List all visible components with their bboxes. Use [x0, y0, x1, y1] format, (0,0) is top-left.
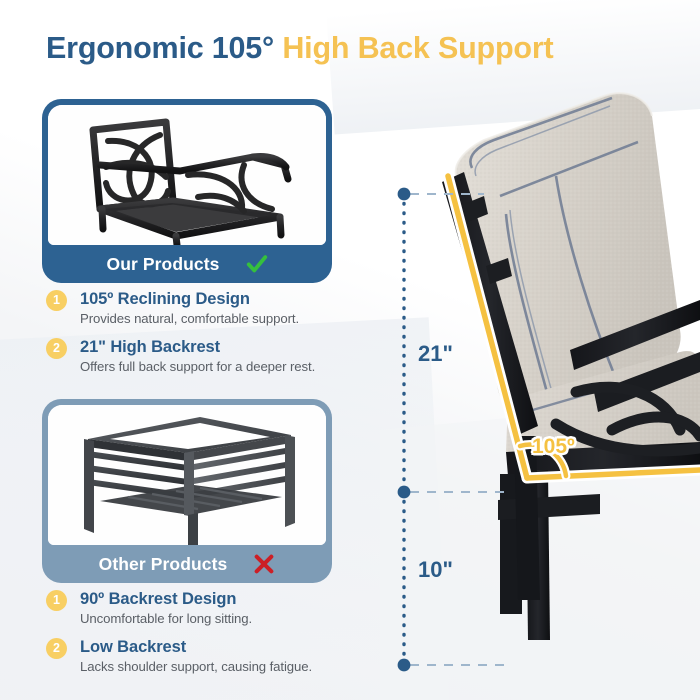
feature-number-badge: 1 [46, 590, 67, 611]
boxy-chair-illustration [48, 405, 326, 545]
page-title-primary: Ergonomic 105° [46, 31, 274, 65]
feature-title: Low Backrest [80, 637, 382, 657]
other-products-feature-list: 1 90º Backrest Design Uncomfortable for … [42, 589, 382, 685]
feature-item: 2 Low Backrest Lacks shoulder support, c… [42, 637, 382, 676]
our-products-feature-list: 1 105º Reclining Design Provides natural… [42, 289, 382, 385]
feature-number-badge: 1 [46, 290, 67, 311]
our-products-label: Our Products [106, 254, 219, 275]
recline-angle-label: 105º [532, 435, 575, 459]
seat-height-label: 10" [418, 557, 453, 583]
cross-icon [253, 553, 275, 575]
other-products-card: Other Products [42, 399, 332, 583]
feature-subtitle: Lacks shoulder support, causing fatigue. [80, 658, 382, 676]
feature-subtitle: Uncomfortable for long sitting. [80, 610, 382, 628]
feature-item: 1 105º Reclining Design Provides natural… [42, 289, 382, 328]
infographic-page: Ergonomic 105° High Back Support [0, 0, 700, 700]
hero-product-photo: 21" 10" 105º [380, 0, 700, 700]
feature-item: 2 21" High Backrest Offers full back sup… [42, 337, 382, 376]
feature-subtitle: Provides natural, comfortable support. [80, 310, 382, 328]
feature-number-badge: 2 [46, 638, 67, 659]
our-products-photo [48, 105, 326, 245]
other-products-photo [48, 405, 326, 545]
backrest-height-label: 21" [418, 341, 453, 367]
our-products-card: Our Products [42, 99, 332, 283]
feature-subtitle: Offers full back support for a deeper re… [80, 358, 382, 376]
feature-title: 90º Backrest Design [80, 589, 382, 609]
feature-title: 105º Reclining Design [80, 289, 382, 309]
feature-item: 1 90º Backrest Design Uncomfortable for … [42, 589, 382, 628]
ornate-chair-illustration [48, 105, 326, 245]
check-icon [246, 253, 268, 275]
our-products-banner: Our Products [48, 245, 326, 283]
feature-number-badge: 2 [46, 338, 67, 359]
other-products-label: Other Products [99, 554, 228, 575]
feature-title: 21" High Backrest [80, 337, 382, 357]
other-products-banner: Other Products [48, 545, 326, 583]
